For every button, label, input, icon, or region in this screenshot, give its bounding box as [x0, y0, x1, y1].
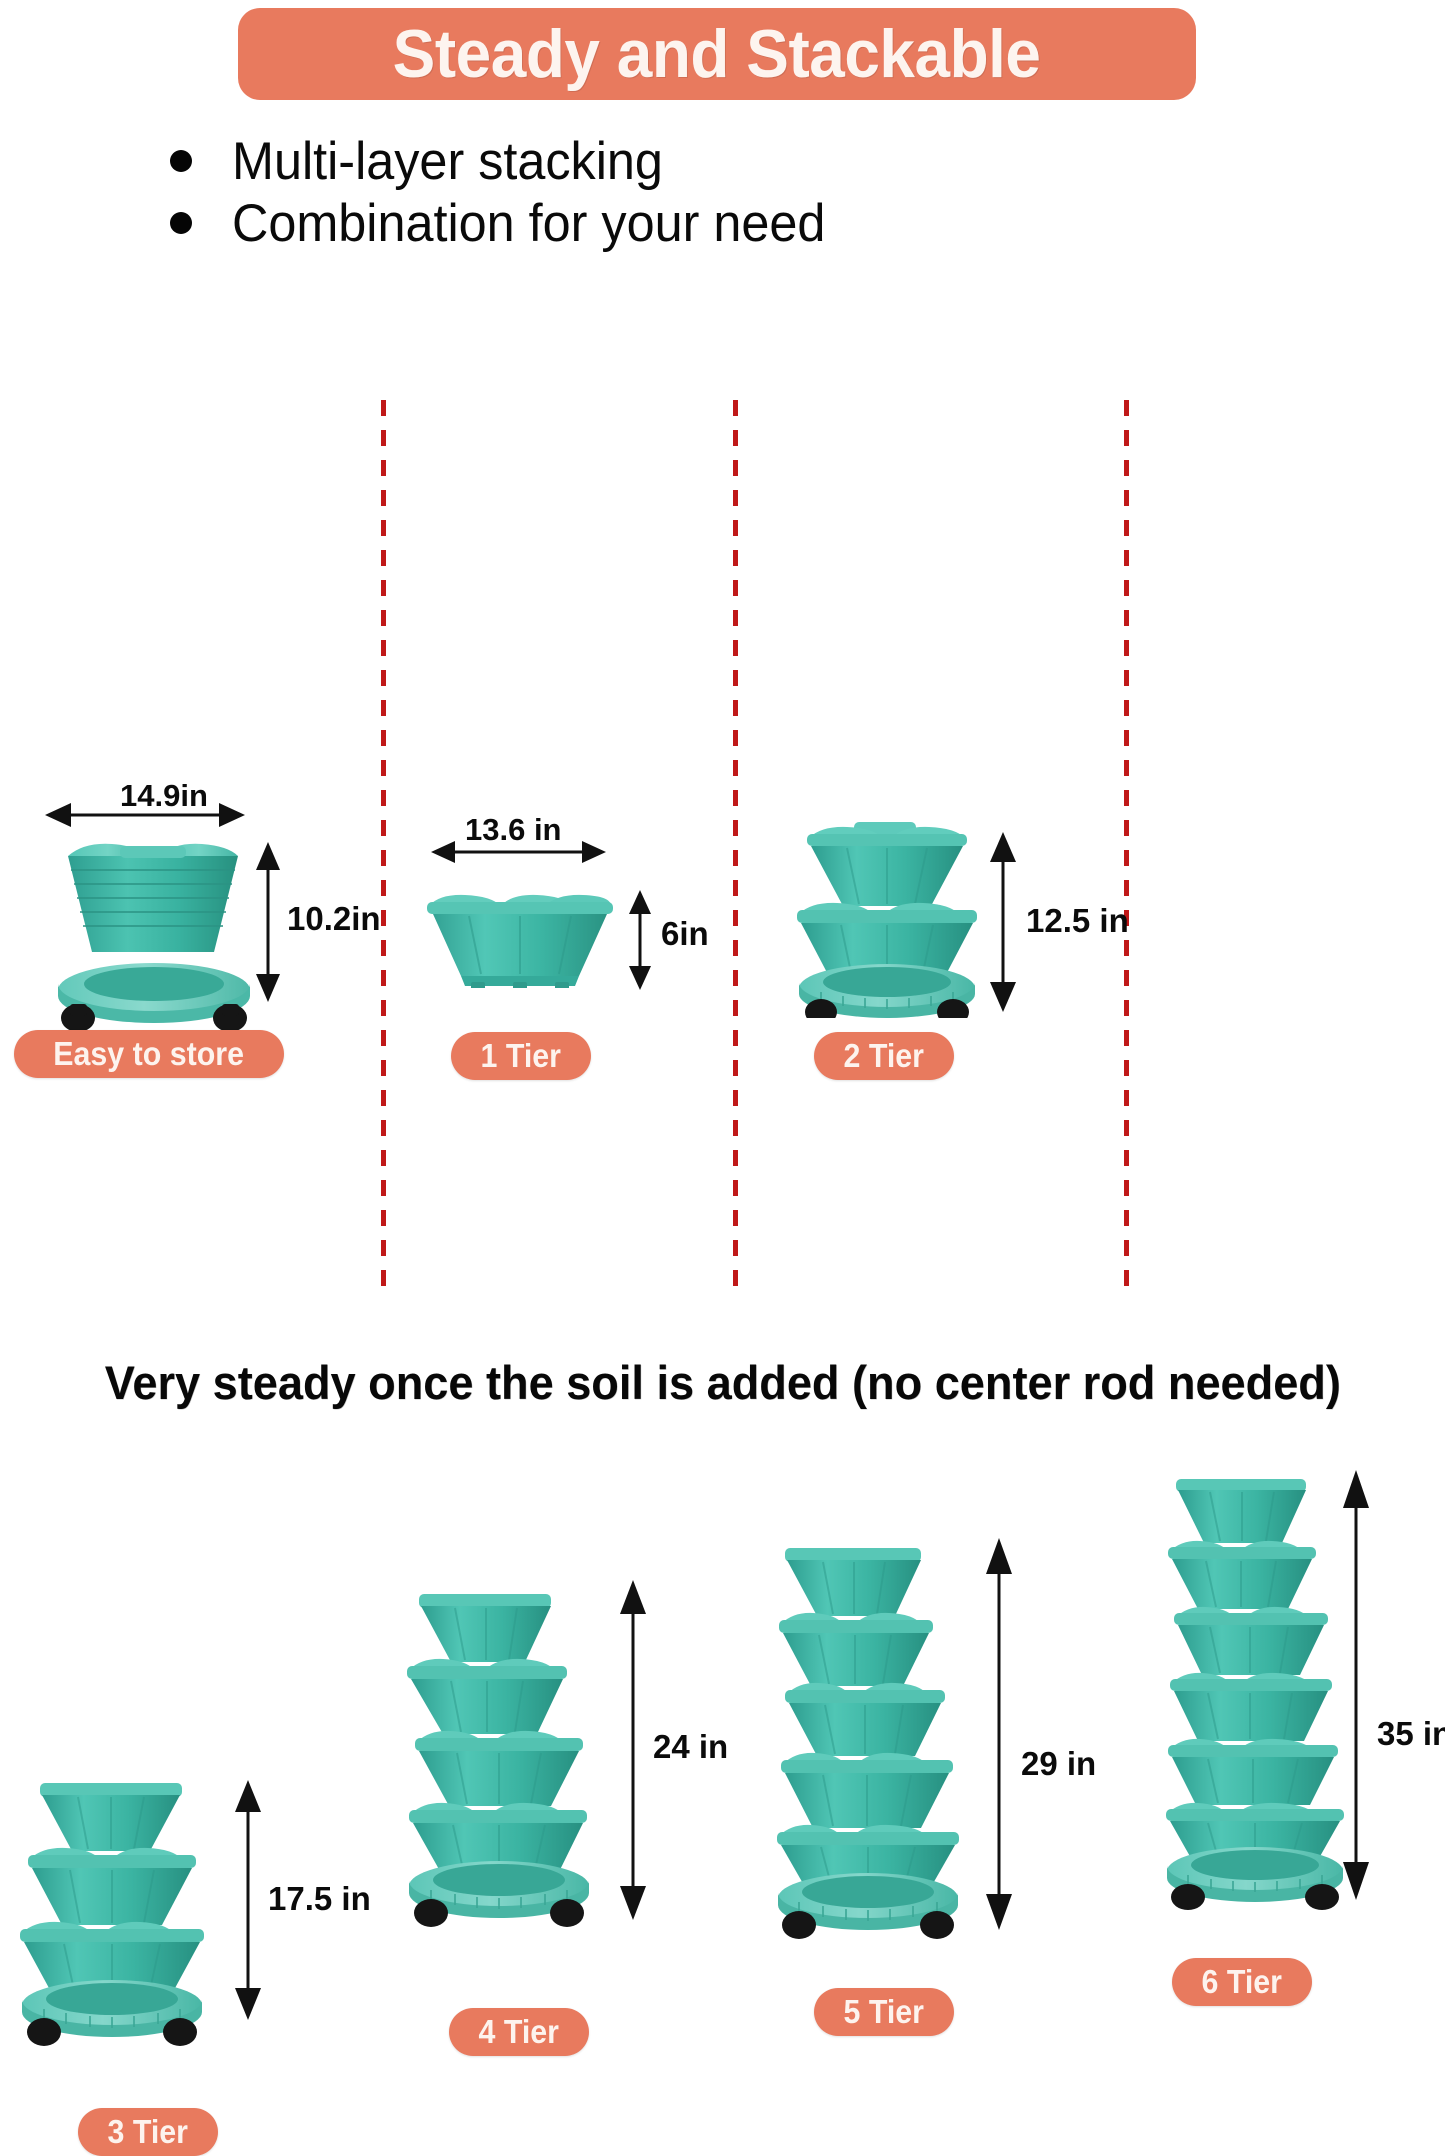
feature-bullet-list: Multi-layer stacking Combination for you…: [170, 130, 1170, 254]
product-image-3-tier: [16, 1777, 212, 2049]
badge-label: 6 Tier: [1202, 1963, 1282, 2001]
width-label-easy-to-store: 14.9in: [120, 778, 208, 814]
list-item: Multi-layer stacking: [170, 130, 1170, 192]
title-banner: Steady and Stackable: [238, 8, 1196, 100]
footer-caption-text: Very steady once the soil is added (no c…: [104, 1355, 1340, 1410]
bullet-dot-icon: [170, 150, 192, 172]
badge-label: 3 Tier: [108, 2113, 188, 2151]
height-arrow-3-tier: [232, 1780, 264, 2020]
panel-6-tier: 35 in 6 Tier: [1124, 730, 1445, 1300]
panel-5-tier: 29 in 5 Tier: [733, 760, 1124, 1300]
page-title: Steady and Stackable: [393, 15, 1041, 93]
panel-4-tier: 24 in 4 Tier: [381, 780, 733, 1300]
height-label-6-tier: 35 in: [1377, 1715, 1445, 1753]
badge-5-tier: 5 Tier: [814, 1988, 954, 2036]
footer-caption: Very steady once the soil is added (no c…: [0, 1355, 1445, 1410]
bullet-dot-icon: [170, 212, 192, 234]
height-label-3-tier: 17.5 in: [268, 1880, 371, 1918]
badge-6-tier: 6 Tier: [1172, 1958, 1312, 2006]
list-item: Combination for your need: [170, 192, 1170, 254]
product-image-5-tier: [771, 1542, 971, 1942]
badge-label: 4 Tier: [479, 2013, 559, 2051]
panel-3-tier: 17.5 in 3 Tier: [0, 880, 381, 1300]
height-arrow-5-tier: [983, 1538, 1015, 1930]
badge-4-tier: 4 Tier: [449, 2008, 589, 2056]
panel-2-tier: 12.5 in 2 Tier: [733, 390, 1124, 690]
panel-easy-to-store: 14.9in: [0, 390, 381, 690]
bullet-label: Combination for your need: [232, 193, 825, 254]
height-arrow-4-tier: [617, 1580, 649, 1920]
infographic-root: Steady and Stackable Multi-layer stackin…: [0, 0, 1445, 1415]
height-label-5-tier: 29 in: [1021, 1745, 1096, 1783]
badge-3-tier: 3 Tier: [78, 2108, 218, 2156]
height-label-4-tier: 24 in: [653, 1728, 728, 1766]
panel-1-tier: 13.6 in: [381, 390, 733, 690]
product-image-6-tier: [1160, 1475, 1356, 1917]
product-image-4-tier: [401, 1588, 601, 1936]
height-arrow-6-tier: [1340, 1470, 1372, 1900]
bullet-label: Multi-layer stacking: [232, 131, 663, 192]
badge-label: 5 Tier: [844, 1993, 924, 2031]
